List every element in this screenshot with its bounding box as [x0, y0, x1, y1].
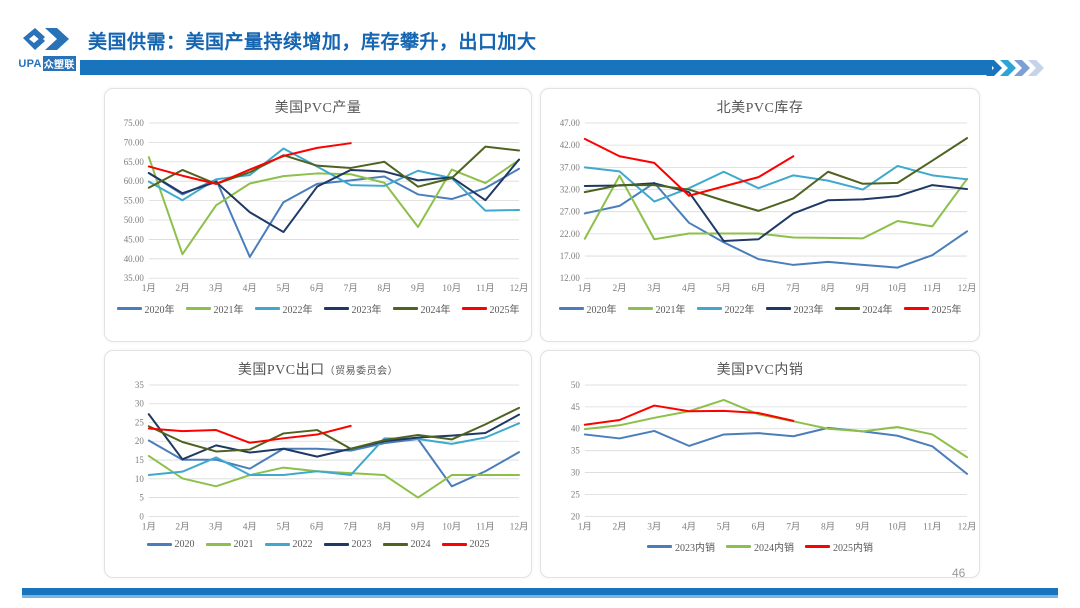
svg-text:6月: 6月 — [310, 283, 324, 294]
svg-text:8月: 8月 — [821, 521, 835, 532]
legend-item[interactable]: 2023内销 — [647, 539, 715, 554]
chart-card-us-pvc-export: 美国PVC出口（贸易委员会） 051015202530351月2月3月4月5月6… — [104, 350, 532, 578]
svg-text:11月: 11月 — [923, 521, 942, 532]
svg-text:75.00: 75.00 — [124, 118, 145, 128]
legend-item-label: 2021年 — [214, 301, 244, 316]
svg-text:6月: 6月 — [310, 521, 324, 532]
svg-text:12月: 12月 — [510, 521, 529, 532]
legend-item-label: 2025 — [470, 539, 490, 550]
svg-text:10月: 10月 — [442, 283, 461, 294]
svg-text:3月: 3月 — [647, 521, 661, 532]
page-title: 美国供需：美国产量持续增加，库存攀升，出口加大 — [88, 27, 1070, 55]
legend-item-label: 2021 — [234, 539, 254, 550]
svg-text:7月: 7月 — [786, 521, 800, 532]
footer-accent-bar-secondary — [22, 595, 1058, 598]
legend-color-swatch — [324, 307, 349, 310]
legend-item-label: 2020年 — [587, 301, 617, 316]
svg-text:1月: 1月 — [578, 283, 592, 294]
svg-text:30: 30 — [135, 399, 144, 409]
legend-color-swatch — [904, 307, 929, 310]
svg-text:3月: 3月 — [647, 283, 661, 294]
svg-text:12月: 12月 — [958, 283, 977, 294]
legend-item-label: 2023 — [352, 539, 372, 550]
svg-text:11月: 11月 — [476, 283, 495, 294]
line-plot: 051015202530351月2月3月4月5月6月7月8月9月10月11月12… — [105, 379, 531, 536]
chevron-right-icon — [1027, 58, 1044, 78]
svg-text:8月: 8月 — [377, 283, 391, 294]
legend-item-label: 2023内销 — [675, 539, 715, 554]
chart-legend: 2020年2021年2022年2023年2024年2025年 — [105, 301, 531, 316]
svg-text:9月: 9月 — [856, 521, 870, 532]
chart-card-north-america-pvc-inventory: 北美PVC库存 12.0017.0022.0027.0032.0037.0042… — [540, 88, 980, 342]
chart-title: 美国PVC出口（贸易委员会） — [105, 351, 531, 379]
svg-text:20: 20 — [135, 436, 144, 446]
legend-item-label: 2023年 — [352, 301, 382, 316]
legend-item[interactable]: 2021 — [206, 539, 254, 550]
page-number: 46 — [952, 566, 965, 580]
header-accent-bar — [80, 60, 992, 75]
chart-card-us-pvc-domestic-sales: 美国PVC内销 202530354045501月2月3月4月5月6月7月8月9月… — [540, 350, 980, 578]
legend-color-swatch — [117, 307, 142, 310]
svg-text:7月: 7月 — [344, 521, 358, 532]
svg-text:5: 5 — [139, 493, 144, 503]
legend-item[interactable]: 2022年 — [255, 301, 313, 316]
svg-text:5月: 5月 — [717, 283, 731, 294]
legend-color-swatch — [265, 543, 290, 546]
svg-text:65.00: 65.00 — [124, 157, 145, 167]
legend-item-label: 2025年 — [932, 301, 962, 316]
svg-text:12.00: 12.00 — [560, 273, 581, 283]
svg-text:1月: 1月 — [142, 283, 156, 294]
svg-text:9月: 9月 — [411, 521, 425, 532]
svg-text:11月: 11月 — [923, 283, 942, 294]
legend-item-label: 2024 — [411, 539, 431, 550]
svg-text:27.00: 27.00 — [560, 207, 581, 217]
legend-color-swatch — [393, 307, 418, 310]
chart-title: 美国PVC内销 — [541, 351, 979, 379]
brand-logo-cn: 众塑联 — [43, 56, 76, 71]
svg-text:17.00: 17.00 — [560, 251, 581, 261]
svg-text:9月: 9月 — [411, 283, 425, 294]
svg-text:5月: 5月 — [717, 521, 731, 532]
svg-text:50: 50 — [571, 380, 580, 390]
svg-text:25: 25 — [135, 417, 144, 427]
svg-text:30: 30 — [571, 468, 580, 478]
svg-text:4月: 4月 — [682, 283, 696, 294]
legend-item[interactable]: 2020年 — [559, 301, 617, 316]
legend-item-label: 2025年 — [490, 301, 520, 316]
legend-color-swatch — [628, 307, 653, 310]
svg-text:9月: 9月 — [856, 283, 870, 294]
svg-text:5月: 5月 — [276, 283, 290, 294]
chart-title: 美国PVC产量 — [105, 89, 531, 117]
legend-color-swatch — [805, 545, 830, 548]
svg-text:6月: 6月 — [751, 283, 765, 294]
chart-title-main: 美国PVC出口 — [238, 363, 325, 378]
slide-root: UPA 众塑联 美国供需：美国产量持续增加，库存攀升，出口加大 美国PVC产量 … — [0, 0, 1080, 608]
legend-color-swatch — [442, 543, 467, 546]
svg-text:10月: 10月 — [442, 521, 461, 532]
upa-arrow-logo-icon — [21, 24, 73, 54]
svg-text:2月: 2月 — [612, 283, 626, 294]
legend-item-label: 2022 — [293, 539, 313, 550]
brand-logo-text: UPA 众塑联 — [18, 56, 75, 71]
legend-color-swatch — [726, 545, 751, 548]
brand-logo-abbr: UPA — [18, 58, 41, 70]
svg-text:3月: 3月 — [209, 521, 223, 532]
legend-color-swatch — [206, 543, 231, 546]
svg-text:12月: 12月 — [510, 283, 529, 294]
chart-legend: 202020212022202320242025 — [105, 539, 531, 550]
svg-text:37.00: 37.00 — [560, 162, 581, 172]
legend-item[interactable]: 2020 — [147, 539, 195, 550]
legend-item[interactable]: 2025年 — [462, 301, 520, 316]
brand-logo: UPA 众塑联 — [10, 24, 84, 78]
chart-card-us-pvc-production: 美国PVC产量 35.0040.0045.0050.0055.0060.0065… — [104, 88, 532, 342]
legend-item[interactable]: 2022年 — [697, 301, 755, 316]
legend-item[interactable]: 2023年 — [766, 301, 824, 316]
svg-text:10月: 10月 — [888, 283, 907, 294]
legend-item[interactable]: 2025年 — [904, 301, 962, 316]
legend-item-label: 2023年 — [794, 301, 824, 316]
svg-text:22.00: 22.00 — [560, 229, 581, 239]
svg-text:55.00: 55.00 — [124, 196, 145, 206]
legend-item-label: 2022年 — [725, 301, 755, 316]
svg-text:45.00: 45.00 — [124, 234, 145, 244]
svg-text:2月: 2月 — [175, 283, 189, 294]
legend-item[interactable]: 2021年 — [186, 301, 244, 316]
legend-color-swatch — [383, 543, 408, 546]
legend-item[interactable]: 2025 — [442, 539, 490, 550]
svg-text:4月: 4月 — [243, 521, 257, 532]
svg-text:45: 45 — [571, 402, 580, 412]
svg-text:40: 40 — [571, 424, 580, 434]
legend-item[interactable]: 2024 — [383, 539, 431, 550]
svg-text:8月: 8月 — [377, 521, 391, 532]
legend-item[interactable]: 2022 — [265, 539, 313, 550]
svg-text:42.00: 42.00 — [560, 140, 581, 150]
svg-text:4月: 4月 — [243, 283, 257, 294]
svg-text:3月: 3月 — [209, 283, 223, 294]
line-plot: 12.0017.0022.0027.0032.0037.0042.0047.00… — [541, 117, 979, 298]
legend-item-label: 2024年 — [863, 301, 893, 316]
legend-item-label: 2020年 — [145, 301, 175, 316]
svg-text:25: 25 — [571, 489, 580, 499]
legend-item[interactable]: 2025内销 — [805, 539, 873, 554]
legend-color-swatch — [697, 307, 722, 310]
svg-text:6月: 6月 — [751, 521, 765, 532]
legend-item[interactable]: 2023年 — [324, 301, 382, 316]
svg-text:2月: 2月 — [612, 521, 626, 532]
legend-item[interactable]: 2023 — [324, 539, 372, 550]
legend-item[interactable]: 2020年 — [117, 301, 175, 316]
svg-text:10月: 10月 — [888, 521, 907, 532]
svg-text:10: 10 — [135, 474, 144, 484]
svg-text:40.00: 40.00 — [124, 254, 145, 264]
legend-item-label: 2021年 — [656, 301, 686, 316]
legend-color-swatch — [835, 307, 860, 310]
legend-item[interactable]: 2024年 — [835, 301, 893, 316]
line-plot: 35.0040.0045.0050.0055.0060.0065.0070.00… — [105, 117, 531, 298]
svg-text:11月: 11月 — [476, 521, 495, 532]
legend-color-swatch — [559, 307, 584, 310]
svg-text:70.00: 70.00 — [124, 137, 145, 147]
svg-text:7月: 7月 — [344, 283, 358, 294]
svg-text:8月: 8月 — [821, 283, 835, 294]
svg-text:35: 35 — [571, 446, 580, 456]
chart-legend: 2023内销2024内销2025内销 — [541, 539, 979, 554]
svg-text:50.00: 50.00 — [124, 215, 145, 225]
svg-text:12月: 12月 — [958, 521, 977, 532]
svg-text:47.00: 47.00 — [560, 118, 581, 128]
legend-color-swatch — [255, 307, 280, 310]
legend-item[interactable]: 2024内销 — [726, 539, 794, 554]
svg-text:32.00: 32.00 — [560, 185, 581, 195]
chart-title: 北美PVC库存 — [541, 89, 979, 117]
legend-item[interactable]: 2024年 — [393, 301, 451, 316]
legend-color-swatch — [462, 307, 487, 310]
legend-item-label: 2025内销 — [833, 539, 873, 554]
svg-text:1月: 1月 — [142, 521, 156, 532]
header-chevron-decoration — [988, 58, 1074, 78]
footer-accent-bar — [22, 588, 1058, 595]
svg-text:5月: 5月 — [276, 521, 290, 532]
svg-text:60.00: 60.00 — [124, 176, 145, 186]
svg-text:7月: 7月 — [786, 283, 800, 294]
legend-item[interactable]: 2021年 — [628, 301, 686, 316]
legend-color-swatch — [147, 543, 172, 546]
legend-item-label: 2024内销 — [754, 539, 794, 554]
legend-color-swatch — [324, 543, 349, 546]
chart-title-main: 北美PVC库存 — [717, 101, 804, 116]
svg-text:20: 20 — [571, 511, 580, 521]
legend-color-swatch — [766, 307, 791, 310]
chart-title-main: 美国PVC产量 — [275, 101, 362, 116]
chart-legend: 2020年2021年2022年2023年2024年2025年 — [541, 301, 979, 316]
legend-item-label: 2022年 — [283, 301, 313, 316]
chart-title-sub: （贸易委员会） — [325, 366, 399, 377]
svg-text:2月: 2月 — [175, 521, 189, 532]
chart-title-main: 美国PVC内销 — [717, 363, 804, 378]
svg-text:35.00: 35.00 — [124, 273, 145, 283]
line-plot: 202530354045501月2月3月4月5月6月7月8月9月10月11月12… — [541, 379, 979, 536]
svg-text:1月: 1月 — [578, 521, 592, 532]
svg-text:15: 15 — [135, 455, 144, 465]
svg-text:0: 0 — [139, 511, 144, 521]
legend-color-swatch — [647, 545, 672, 548]
legend-item-label: 2020 — [175, 539, 195, 550]
svg-text:4月: 4月 — [682, 521, 696, 532]
svg-text:35: 35 — [135, 380, 144, 390]
legend-color-swatch — [186, 307, 211, 310]
legend-item-label: 2024年 — [421, 301, 451, 316]
